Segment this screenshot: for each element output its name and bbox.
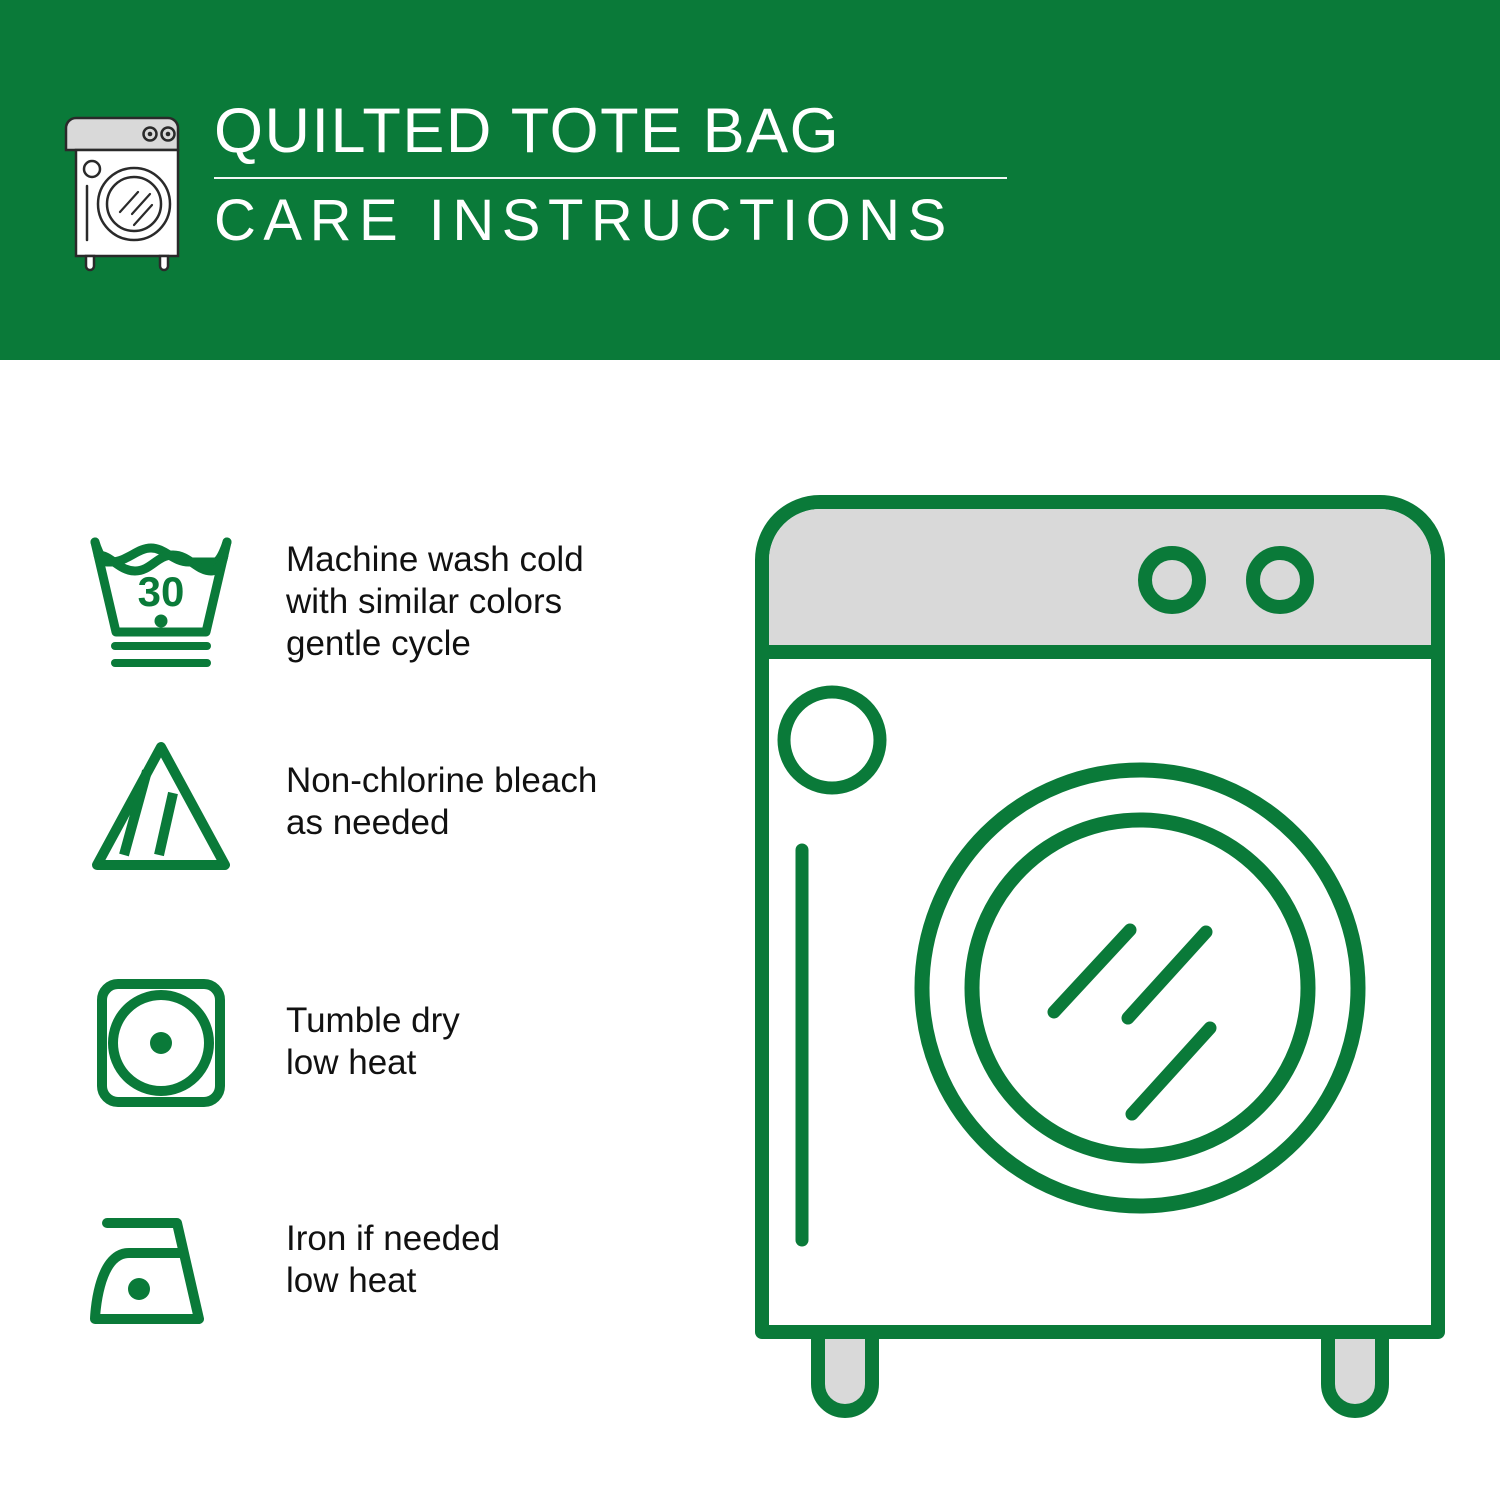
page-subtitle: CARE INSTRUCTIONS — [214, 190, 1062, 252]
care-instruction-list: 30 Machine wash cold with similar colors… — [0, 360, 740, 1500]
page-title: QUILTED TOTE BAG — [214, 98, 1062, 164]
care-item-label: Iron if needed low heat — [243, 1192, 718, 1302]
bleach-triangle-non-chlorine-icon — [78, 730, 243, 885]
care-label-line-1: Tumble dry — [286, 1000, 718, 1042]
tumble-dry-low-heat-icon — [78, 968, 243, 1123]
care-item-bleach: Non-chlorine bleach as needed — [78, 730, 718, 885]
care-instructions-infographic: QUILTED TOTE BAG CARE INSTRUCTIONS 30 — [0, 0, 1500, 1500]
header-content: QUILTED TOTE BAG CARE INSTRUCTIONS — [62, 98, 1062, 288]
title-divider — [214, 177, 1007, 179]
care-item-label: Tumble dry low heat — [243, 968, 718, 1084]
header-banner: QUILTED TOTE BAG CARE INSTRUCTIONS — [0, 0, 1500, 360]
leg-left — [818, 1332, 872, 1411]
care-label-line-2: low heat — [286, 1260, 718, 1302]
care-label-line-1: Iron if needed — [286, 1218, 718, 1260]
care-label-line-2: as needed — [286, 802, 718, 844]
care-item-iron: Iron if needed low heat — [78, 1192, 718, 1347]
care-label-line-3: gentle cycle — [286, 623, 718, 665]
wash-tub-30-gentle-icon: 30 — [78, 525, 243, 680]
wash-temperature-value: 30 — [137, 568, 184, 615]
care-item-label: Non-chlorine bleach as needed — [243, 730, 718, 844]
leg-right — [1328, 1332, 1382, 1411]
care-label-line-2: with similar colors — [286, 581, 718, 623]
care-item-machine-wash: 30 Machine wash cold with similar colors… — [78, 525, 718, 680]
care-label-line-1: Non-chlorine bleach — [286, 760, 718, 802]
header-title-block: QUILTED TOTE BAG CARE INSTRUCTIONS — [214, 98, 1062, 252]
iron-low-heat-icon — [78, 1192, 243, 1347]
washing-machine-icon — [62, 108, 192, 276]
care-item-label: Machine wash cold with similar colors ge… — [243, 525, 718, 665]
care-label-line-2: low heat — [286, 1042, 718, 1084]
care-label-line-1: Machine wash cold — [286, 539, 718, 581]
front-load-washing-machine-illustration — [740, 480, 1460, 1430]
care-item-tumble-dry: Tumble dry low heat — [78, 968, 718, 1123]
control-panel — [769, 509, 1431, 652]
